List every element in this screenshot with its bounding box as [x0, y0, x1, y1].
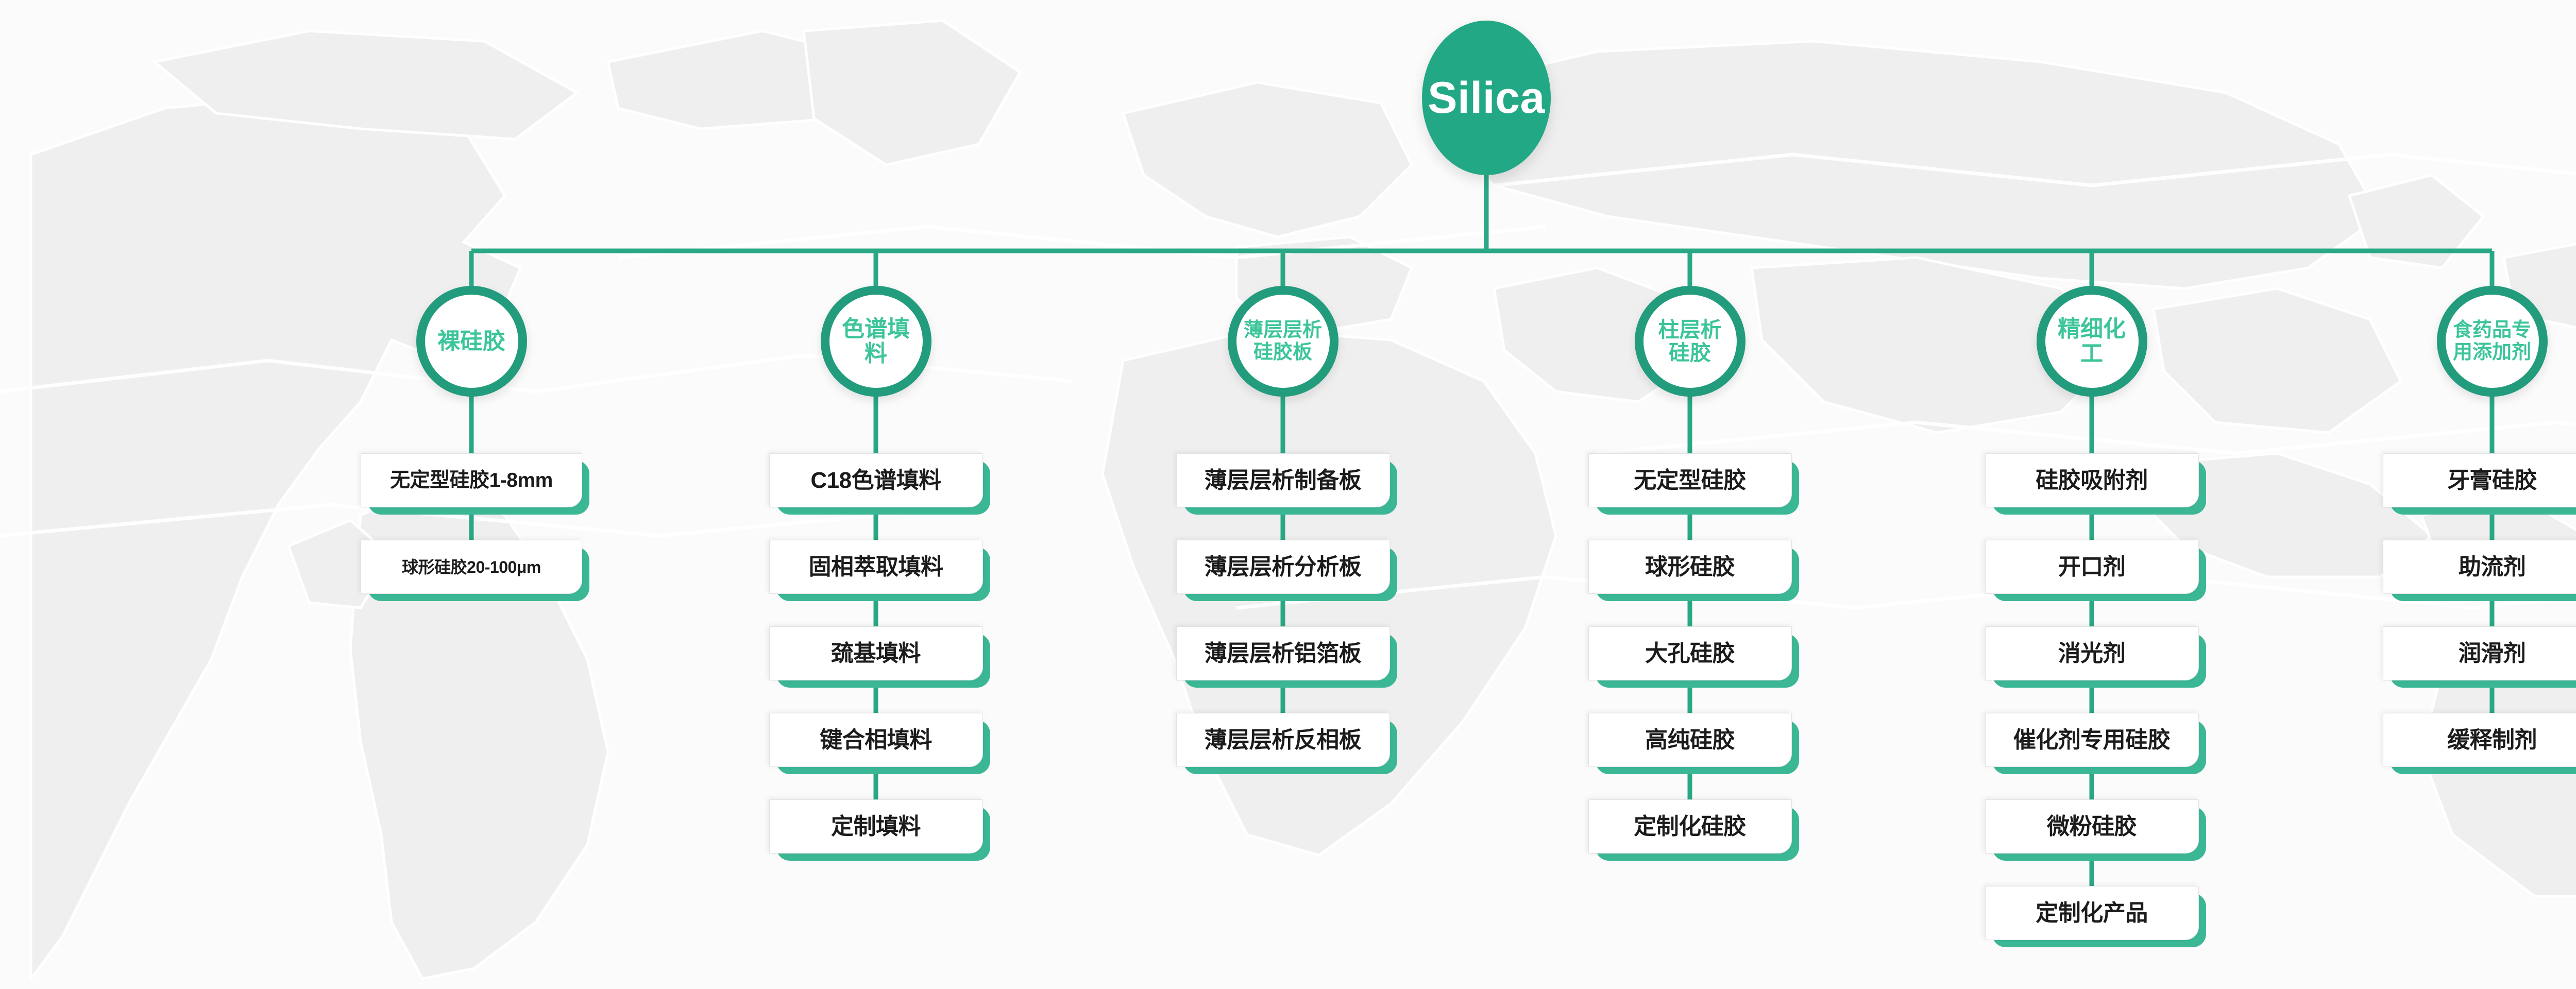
leaf-box[interactable]: 催化剂专用硅胶: [1985, 713, 2199, 767]
leaf-box-label: 定制填料: [831, 815, 921, 838]
leaf-box-label: 键合相填料: [820, 729, 932, 752]
leaf-box-face: C18色谱填料: [769, 453, 983, 507]
leaf-box-face: 定制化产品: [1985, 886, 2199, 940]
leaf-box-label: 大孔硅胶: [1645, 642, 1735, 665]
category-circle-label: 柱层析 硅胶: [1655, 318, 1725, 364]
category-circle-food-pharma-additives[interactable]: 食药品专 用添加剂: [2437, 286, 2548, 397]
leaf-box-face: 无定型硅胶: [1588, 453, 1792, 507]
leaf-box-face: 薄层层析分析板: [1176, 540, 1390, 594]
leaf-box-face: 薄层层析铝箔板: [1176, 626, 1390, 680]
category-circle-label: 薄层层析 硅胶板: [1241, 319, 1325, 363]
leaf-box[interactable]: 消光剂: [1985, 626, 2199, 680]
leaf-box-face: 缓释制剂: [2383, 713, 2576, 767]
leaf-box-label: 催化剂专用硅胶: [2013, 729, 2171, 752]
leaf-box[interactable]: 薄层层析铝箔板: [1176, 626, 1390, 680]
leaf-box[interactable]: 微粉硅胶: [1985, 799, 2199, 854]
leaf-box[interactable]: C18色谱填料: [769, 453, 983, 507]
leaf-box[interactable]: 球形硅胶20-100μm: [361, 540, 582, 594]
category-circle-label: 裸硅胶: [434, 329, 509, 354]
leaf-box[interactable]: 定制填料: [769, 799, 983, 854]
category-circle-chromatography-packing[interactable]: 色谱填料: [821, 286, 931, 397]
leaf-box[interactable]: 助流剂: [2383, 540, 2576, 594]
leaf-box[interactable]: 固相萃取填料: [769, 540, 983, 594]
leaf-box-face: 球形硅胶20-100μm: [361, 540, 582, 594]
leaf-box-label: 无定型硅胶: [1634, 469, 1746, 492]
leaf-box-label: 润滑剂: [2459, 642, 2526, 665]
leaf-box-label: 巯基填料: [831, 642, 921, 665]
leaf-box-label: 无定型硅胶1-8mm: [390, 470, 553, 490]
leaf-box-label: 助流剂: [2459, 556, 2526, 578]
leaf-box[interactable]: 巯基填料: [769, 626, 983, 680]
leaf-box-label: 薄层层析反相板: [1205, 729, 1362, 752]
leaf-box-label: 开口剂: [2058, 556, 2126, 578]
leaf-box-face: 球形硅胶: [1588, 540, 1792, 594]
leaf-box[interactable]: 薄层层析制备板: [1176, 453, 1390, 507]
leaf-box-face: 无定型硅胶1-8mm: [361, 453, 582, 507]
category-circle-column-chromatography-silica[interactable]: 柱层析 硅胶: [1635, 286, 1745, 397]
category-circle-fine-chemicals[interactable]: 精细化工: [2037, 286, 2147, 397]
leaf-box-face: 定制化硅胶: [1588, 799, 1792, 854]
leaf-box[interactable]: 球形硅胶: [1588, 540, 1792, 594]
leaf-box-face: 定制填料: [769, 799, 983, 854]
leaf-box-face: 巯基填料: [769, 626, 983, 680]
org-chart-canvas: Silica 裸硅胶无定型硅胶1-8mm球形硅胶20-100μm色谱填料C18色…: [0, 0, 2576, 989]
leaf-box-face: 键合相填料: [769, 713, 983, 767]
leaf-box[interactable]: 定制化产品: [1985, 886, 2199, 940]
leaf-box-label: 缓释制剂: [2447, 729, 2537, 752]
leaf-box-label: 球形硅胶20-100μm: [402, 559, 541, 575]
leaf-box-face: 开口剂: [1985, 540, 2199, 594]
leaf-box-face: 消光剂: [1985, 626, 2199, 680]
category-circle-label: 食药品专 用添加剂: [2450, 319, 2534, 363]
leaf-box-face: 大孔硅胶: [1588, 626, 1792, 680]
leaf-box-label: 硅胶吸附剂: [2036, 469, 2148, 492]
leaf-box-label: 球形硅胶: [1645, 556, 1735, 578]
leaf-box[interactable]: 键合相填料: [769, 713, 983, 767]
category-circle-label: 色谱填料: [829, 317, 923, 366]
leaf-box[interactable]: 薄层层析反相板: [1176, 713, 1390, 767]
leaf-box-label: 牙膏硅胶: [2447, 469, 2537, 492]
leaf-box[interactable]: 无定型硅胶1-8mm: [361, 453, 582, 507]
leaf-box[interactable]: 定制化硅胶: [1588, 799, 1792, 854]
leaf-box[interactable]: 牙膏硅胶: [2383, 453, 2576, 507]
leaf-box-label: 定制化产品: [2036, 902, 2148, 925]
leaf-box[interactable]: 薄层层析分析板: [1176, 540, 1390, 594]
root-node-silica[interactable]: Silica: [1422, 21, 1551, 175]
leaf-box-label: 薄层层析分析板: [1205, 556, 1362, 578]
leaf-box-face: 助流剂: [2383, 540, 2576, 594]
leaf-box-label: 消光剂: [2058, 642, 2126, 665]
category-circle-tlc-silica-plate[interactable]: 薄层层析 硅胶板: [1228, 286, 1338, 397]
leaf-box-face: 高纯硅胶: [1588, 713, 1792, 767]
leaf-box-face: 硅胶吸附剂: [1985, 453, 2199, 507]
category-circle-bare-silica[interactable]: 裸硅胶: [416, 286, 527, 397]
leaf-box-face: 润滑剂: [2383, 626, 2576, 680]
leaf-box[interactable]: 无定型硅胶: [1588, 453, 1792, 507]
category-circle-label: 精细化工: [2045, 317, 2139, 366]
leaf-box[interactable]: 硅胶吸附剂: [1985, 453, 2199, 507]
leaf-box-label: 薄层层析制备板: [1205, 469, 1362, 492]
root-node-label: Silica: [1428, 76, 1545, 120]
leaf-box-face: 牙膏硅胶: [2383, 453, 2576, 507]
leaf-box-face: 固相萃取填料: [769, 540, 983, 594]
leaf-box[interactable]: 大孔硅胶: [1588, 626, 1792, 680]
leaf-box-face: 薄层层析制备板: [1176, 453, 1390, 507]
leaf-box[interactable]: 缓释制剂: [2383, 713, 2576, 767]
leaf-box-label: 薄层层析铝箔板: [1205, 642, 1362, 665]
leaf-box-face: 薄层层析反相板: [1176, 713, 1390, 767]
leaf-box-label: 固相萃取填料: [809, 556, 943, 578]
leaf-box-label: 微粉硅胶: [2047, 815, 2137, 838]
leaf-box[interactable]: 高纯硅胶: [1588, 713, 1792, 767]
leaf-box[interactable]: 开口剂: [1985, 540, 2199, 594]
leaf-box-face: 微粉硅胶: [1985, 799, 2199, 854]
leaf-box-label: 高纯硅胶: [1645, 729, 1735, 752]
leaf-box-label: 定制化硅胶: [1634, 815, 1746, 838]
leaf-box[interactable]: 润滑剂: [2383, 626, 2576, 680]
leaf-box-face: 催化剂专用硅胶: [1985, 713, 2199, 767]
leaf-box-label: C18色谱填料: [810, 469, 941, 492]
